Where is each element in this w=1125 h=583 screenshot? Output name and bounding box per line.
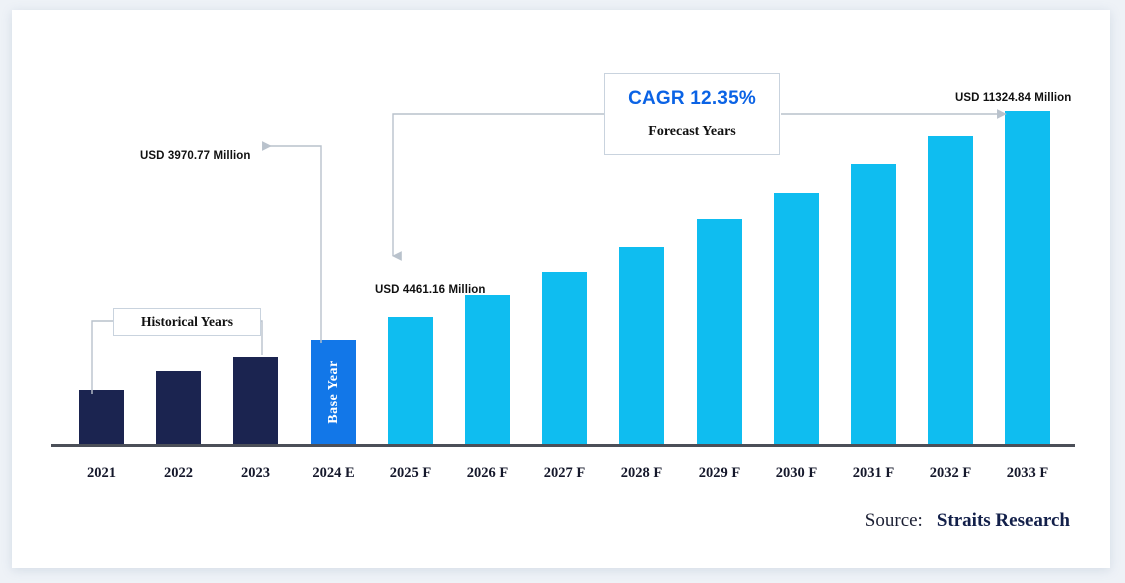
x-tick-2032-f: 2032 F [914, 465, 987, 482]
bar-2030-f[interactable] [774, 193, 819, 444]
x-tick-2030-f: 2030 F [760, 465, 833, 482]
bar-2026-f[interactable] [465, 295, 510, 444]
cagr-caption: Forecast Years [648, 124, 735, 140]
x-tick-2024-e: 2024 E [297, 465, 370, 482]
bar-2023[interactable] [233, 357, 278, 444]
x-tick-2031-f: 2031 F [837, 465, 910, 482]
bar-2032-f[interactable] [928, 136, 973, 444]
x-tick-2029-f: 2029 F [683, 465, 756, 482]
forecast-start-callout-line [393, 114, 604, 256]
cagr-callout-box: CAGR 12.35% Forecast Years [604, 73, 780, 155]
final-forecast-value-label: USD 11324.84 Million [955, 92, 1071, 104]
x-tick-2026-f: 2026 F [451, 465, 524, 482]
historical-years-box: Historical Years [113, 308, 261, 336]
bar-2028-f[interactable] [619, 247, 664, 444]
source-footer: Source: Straits Research [865, 510, 1070, 532]
bar-2022[interactable] [156, 371, 201, 444]
screenshot-root: Base Year 2021202220232024 E2025 F2026 F… [0, 0, 1125, 583]
x-tick-2021: 2021 [65, 465, 138, 482]
historical-years-label: Historical Years [141, 314, 233, 330]
chart-plot-area: Base Year 2021202220232024 E2025 F2026 F… [12, 10, 1110, 568]
base-year-bar-label: Base Year [326, 360, 342, 423]
bar-2021[interactable] [79, 390, 124, 444]
x-tick-2028-f: 2028 F [605, 465, 678, 482]
bar-2031-f[interactable] [851, 164, 896, 444]
x-tick-2023: 2023 [219, 465, 292, 482]
bar-2027-f[interactable] [542, 272, 587, 444]
x-tick-2022: 2022 [142, 465, 215, 482]
base-year-value-label: USD 3970.77 Million [140, 150, 251, 162]
source-name: Straits Research [937, 510, 1070, 532]
x-tick-2025-f: 2025 F [374, 465, 447, 482]
x-axis-line [51, 444, 1075, 447]
bar-2029-f[interactable] [697, 219, 742, 444]
bar-2025-f[interactable] [388, 317, 433, 444]
bar-2024-e[interactable]: Base Year [311, 340, 356, 444]
x-tick-2027-f: 2027 F [528, 465, 601, 482]
source-label: Source: [865, 510, 923, 532]
first-forecast-value-label: USD 4461.16 Million [375, 284, 486, 296]
base-year-callout-line [263, 146, 321, 343]
bar-2033-f[interactable] [1005, 111, 1050, 444]
cagr-value: CAGR 12.35% [628, 88, 756, 110]
x-tick-2033-f: 2033 F [991, 465, 1064, 482]
chart-card: Base Year 2021202220232024 E2025 F2026 F… [12, 10, 1110, 568]
